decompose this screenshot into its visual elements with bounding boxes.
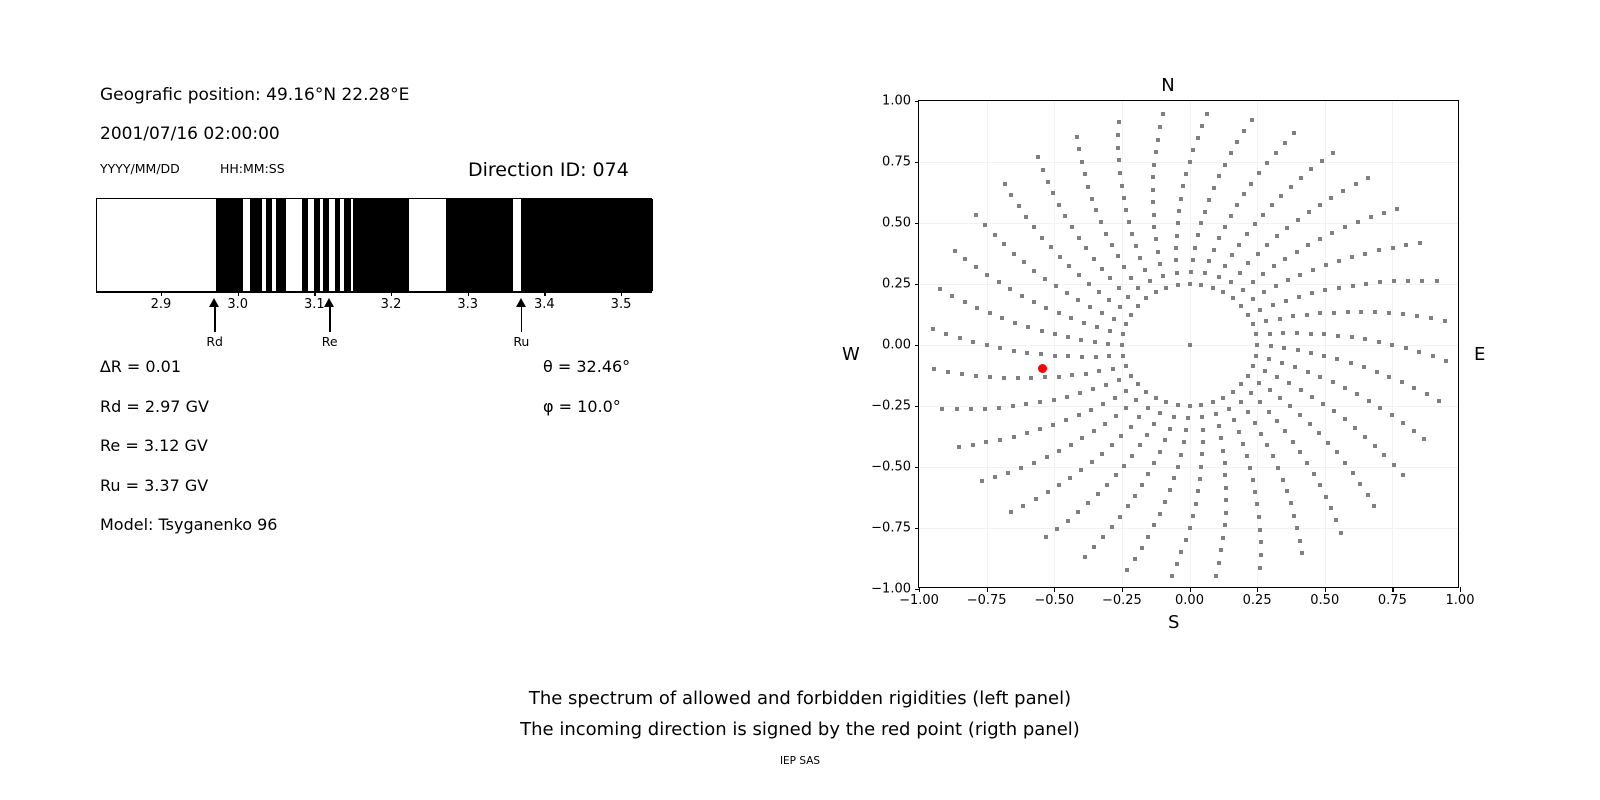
x-axis-tick xyxy=(1325,587,1326,592)
direction-node xyxy=(1002,376,1006,380)
direction-node xyxy=(1292,514,1296,518)
direction-node xyxy=(1025,351,1029,355)
direction-node xyxy=(1118,515,1122,519)
direction-node xyxy=(1401,421,1405,425)
direction-node xyxy=(1079,468,1083,472)
direction-node xyxy=(1242,192,1246,196)
direction-node xyxy=(1168,427,1172,431)
direction-node xyxy=(1076,510,1080,514)
direction-node xyxy=(1395,207,1399,211)
direction-node xyxy=(1382,211,1386,215)
direction-node xyxy=(1214,574,1218,578)
rigidity-axis-tick-label: 3.4 xyxy=(534,297,555,312)
y-axis-tick xyxy=(915,284,920,285)
rigidity-axis-tick xyxy=(391,292,392,296)
direction-node xyxy=(1254,354,1258,358)
direction-node xyxy=(1239,400,1243,404)
direction-node xyxy=(946,370,950,374)
direction-node xyxy=(1066,354,1070,358)
direction-node xyxy=(1292,131,1296,135)
compass-east-label: E xyxy=(1474,344,1485,365)
direction-node xyxy=(1291,314,1295,318)
direction-node xyxy=(1088,305,1092,309)
direction-node xyxy=(1148,279,1152,283)
direction-node xyxy=(1021,504,1025,508)
direction-node xyxy=(1140,546,1144,550)
direction-node xyxy=(1224,486,1228,490)
direction-node xyxy=(1377,340,1381,344)
rigidity-axis: 2.93.03.13.23.33.43.5 xyxy=(96,292,652,308)
direction-node xyxy=(1121,354,1125,358)
direction-node xyxy=(1058,255,1062,259)
direction-node xyxy=(1087,282,1091,286)
direction-node xyxy=(1217,561,1221,565)
direction-node xyxy=(1184,428,1188,432)
x-axis-tick xyxy=(987,587,988,592)
direction-node xyxy=(1172,415,1176,419)
direction-node xyxy=(1369,215,1373,219)
direction-scatter-plot: −1.00−0.75−0.50−0.250.000.250.500.751.00… xyxy=(918,100,1459,588)
direction-node xyxy=(1146,535,1150,539)
direction-node xyxy=(1201,428,1205,432)
direction-node xyxy=(1329,506,1333,510)
direction-node xyxy=(1113,396,1117,400)
direction-node xyxy=(974,374,978,378)
direction-node xyxy=(1251,478,1255,482)
direction-node xyxy=(1179,550,1183,554)
direction-node xyxy=(1285,489,1289,493)
direction-node xyxy=(988,311,992,315)
direction-node xyxy=(1051,191,1055,195)
x-axis-tick-label: −1.00 xyxy=(899,593,939,608)
direction-node xyxy=(1154,290,1158,294)
y-axis-tick-label: 0.25 xyxy=(851,277,911,292)
direction-node xyxy=(1199,283,1203,287)
direction-node xyxy=(1158,262,1162,266)
direction-node xyxy=(1108,276,1112,280)
parameter-right-0: θ = 32.46° xyxy=(543,357,630,376)
arrow-up-icon xyxy=(209,298,219,307)
incoming-direction-point[interactable] xyxy=(1038,364,1047,373)
direction-node xyxy=(1080,355,1084,359)
direction-node xyxy=(1205,112,1209,116)
direction-node xyxy=(1377,248,1381,252)
direction-node xyxy=(1329,196,1333,200)
direction-node xyxy=(1091,387,1095,391)
direction-node xyxy=(983,223,987,227)
direction-node xyxy=(1176,465,1180,469)
direction-id-label: Direction ID: 074 xyxy=(468,159,629,181)
direction-node xyxy=(1086,185,1090,189)
x-axis-tick xyxy=(1392,587,1393,592)
direction-node xyxy=(1078,391,1082,395)
direction-node xyxy=(1212,248,1216,252)
direction-node xyxy=(1275,419,1279,423)
direction-node xyxy=(1207,198,1211,202)
direction-node xyxy=(1019,466,1023,470)
direction-node xyxy=(1133,557,1137,561)
forbidden-band xyxy=(314,199,320,291)
direction-node xyxy=(1108,329,1112,333)
direction-node xyxy=(1343,225,1347,229)
marker-label: Ru xyxy=(501,334,541,349)
direction-node xyxy=(1283,429,1287,433)
direction-node xyxy=(1224,511,1228,515)
parameter-left-2: Re = 3.12 GV xyxy=(100,436,208,455)
rigidity-spectrum-panel: Geografic position: 49.16°N 22.28°E 2001… xyxy=(0,0,760,660)
direction-node xyxy=(1055,527,1059,531)
direction-node xyxy=(1336,334,1340,338)
direction-node xyxy=(1219,436,1223,440)
direction-node xyxy=(1248,466,1252,470)
direction-node xyxy=(974,213,978,217)
direction-node xyxy=(1126,504,1130,508)
direction-node xyxy=(1366,176,1370,180)
direction-node xyxy=(1343,461,1347,465)
direction-node xyxy=(938,287,942,291)
direction-node xyxy=(1221,396,1225,400)
direction-node xyxy=(1175,234,1179,238)
direction-node xyxy=(1066,335,1070,339)
axis-line xyxy=(96,292,652,293)
direction-node xyxy=(1318,311,1322,315)
forbidden-band xyxy=(344,199,350,291)
direction-node xyxy=(1129,313,1133,317)
parameter-left-3: Ru = 3.37 GV xyxy=(100,476,208,495)
direction-node xyxy=(1011,404,1015,408)
direction-node xyxy=(1086,501,1090,505)
direction-node xyxy=(1251,364,1255,368)
direction-node xyxy=(1287,381,1291,385)
direction-node xyxy=(1362,365,1366,369)
direction-node xyxy=(971,340,975,344)
marker-shaft xyxy=(521,304,523,332)
direction-node xyxy=(1259,553,1263,557)
direction-node xyxy=(1199,465,1203,469)
direction-node xyxy=(1032,269,1036,273)
direction-node xyxy=(1016,376,1020,380)
direction-node xyxy=(1122,196,1126,200)
direction-node xyxy=(1253,421,1257,425)
direction-node xyxy=(1032,461,1036,465)
direction-node xyxy=(1275,375,1279,379)
direction-node xyxy=(1070,373,1074,377)
x-axis-tick xyxy=(1460,587,1461,592)
direction-node xyxy=(1238,271,1242,275)
direction-node xyxy=(1176,221,1180,225)
direction-node xyxy=(1358,482,1362,486)
direction-node xyxy=(1323,288,1327,292)
y-axis-tick xyxy=(915,406,920,407)
direction-node xyxy=(1339,531,1343,535)
direction-node xyxy=(1203,271,1207,275)
direction-node xyxy=(1152,225,1156,229)
direction-node xyxy=(1179,453,1183,457)
direction-node xyxy=(1107,354,1111,358)
direction-node xyxy=(1312,472,1316,476)
direction-node xyxy=(1322,332,1326,336)
forbidden-band xyxy=(446,199,513,291)
direction-node xyxy=(1186,416,1190,420)
direction-node xyxy=(1121,332,1125,336)
direction-node xyxy=(1354,182,1358,186)
caption-line-2: The incoming direction is signed by the … xyxy=(0,719,1600,740)
direction-node xyxy=(1124,208,1128,212)
direction-node xyxy=(1331,151,1335,155)
direction-node xyxy=(1152,461,1156,465)
forbidden-band xyxy=(353,199,409,291)
direction-node xyxy=(1176,403,1180,407)
direction-node xyxy=(1151,188,1155,192)
direction-node xyxy=(1096,492,1100,496)
direction-node xyxy=(1224,498,1228,502)
direction-node xyxy=(1176,283,1180,287)
direction-node xyxy=(1318,237,1322,241)
rigidity-axis-tick xyxy=(621,292,622,296)
y-axis-tick xyxy=(915,345,920,346)
direction-node xyxy=(1286,278,1290,282)
direction-node xyxy=(1412,386,1416,390)
direction-node xyxy=(1200,415,1204,419)
direction-node xyxy=(1280,361,1284,365)
direction-node xyxy=(983,407,987,411)
direction-node xyxy=(1084,372,1088,376)
direction-node xyxy=(1152,523,1156,527)
direction-node xyxy=(960,372,964,376)
direction-node xyxy=(1400,380,1404,384)
direction-node xyxy=(1203,210,1207,214)
direction-node xyxy=(980,479,984,483)
direction-node xyxy=(1057,203,1061,207)
direction-node xyxy=(1117,158,1121,162)
direction-node xyxy=(1175,562,1179,566)
direction-node xyxy=(1057,375,1061,379)
direction-node xyxy=(1032,225,1036,229)
direction-node xyxy=(1219,548,1223,552)
direction-node xyxy=(1229,151,1233,155)
direction-node xyxy=(1194,502,1198,506)
direction-node xyxy=(1279,194,1283,198)
direction-node xyxy=(1046,490,1050,494)
y-axis-tick xyxy=(915,467,920,468)
gridline-vertical xyxy=(1054,101,1055,587)
direction-node xyxy=(1038,400,1042,404)
direction-node xyxy=(1101,402,1105,406)
direction-node xyxy=(1077,273,1081,277)
time-format-hint: HH:MM:SS xyxy=(220,161,285,176)
x-axis-tick-label: 0.50 xyxy=(1310,593,1339,608)
direction-node xyxy=(1092,257,1096,261)
direction-node xyxy=(1082,321,1086,325)
direction-node xyxy=(1231,390,1235,394)
direction-node xyxy=(1066,519,1070,523)
direction-node xyxy=(1116,146,1120,150)
direction-node xyxy=(1175,271,1179,275)
direction-node xyxy=(1309,351,1313,355)
direction-node xyxy=(1387,311,1391,315)
direction-node xyxy=(1281,478,1285,482)
rigidity-spectrum-bar xyxy=(96,198,652,292)
direction-node xyxy=(1200,124,1204,128)
direction-node xyxy=(1257,171,1261,175)
direction-node xyxy=(1363,252,1367,256)
direction-node xyxy=(1057,449,1061,453)
direction-node xyxy=(1332,311,1336,315)
direction-node xyxy=(1189,270,1193,274)
direction-node xyxy=(1188,343,1192,347)
direction-node xyxy=(1274,151,1278,155)
rigidity-axis-tick-label: 3.1 xyxy=(304,297,325,312)
direction-node xyxy=(1382,453,1386,457)
y-axis-tick xyxy=(915,223,920,224)
direction-node xyxy=(1387,375,1391,379)
direction-node xyxy=(1230,253,1234,257)
direction-node xyxy=(1223,523,1227,527)
rigidity-axis-tick-label: 3.0 xyxy=(227,297,248,312)
direction-node xyxy=(1281,331,1285,335)
direction-node xyxy=(1116,133,1120,137)
direction-node xyxy=(1133,494,1137,498)
direction-node xyxy=(1079,338,1083,342)
direction-node xyxy=(1130,232,1134,236)
direction-node xyxy=(1337,259,1341,263)
direction-node xyxy=(1156,250,1160,254)
direction-node xyxy=(985,273,989,277)
direction-node xyxy=(1406,279,1410,283)
direction-node xyxy=(1298,413,1302,417)
direction-node xyxy=(1070,225,1074,229)
geographic-position-label: Geografic position: 49.16°N 22.28°E xyxy=(100,85,409,105)
direction-node xyxy=(1217,174,1221,178)
direction-node xyxy=(1126,295,1130,299)
direction-node xyxy=(1422,437,1426,441)
direction-node xyxy=(1069,316,1073,320)
y-axis-tick-label: 0.75 xyxy=(851,155,911,170)
direction-node xyxy=(1046,180,1050,184)
direction-node xyxy=(1008,287,1012,291)
direction-node xyxy=(1009,193,1013,197)
direction-node xyxy=(1090,197,1094,201)
direction-node xyxy=(1253,222,1257,226)
direction-node xyxy=(1214,412,1218,416)
x-axis-tick xyxy=(1122,587,1123,592)
arrow-up-icon xyxy=(324,298,334,307)
direction-node xyxy=(1003,182,1007,186)
direction-node xyxy=(1285,226,1289,230)
direction-node xyxy=(1223,461,1227,465)
direction-node xyxy=(1151,200,1155,204)
direction-node xyxy=(1246,374,1250,378)
rigidity-axis-tick xyxy=(314,292,315,296)
direction-node xyxy=(1094,355,1098,359)
direction-node xyxy=(1129,374,1133,378)
marker-label: Rd xyxy=(195,334,235,349)
direction-node xyxy=(1425,392,1429,396)
direction-node xyxy=(1151,175,1155,179)
direction-node xyxy=(1083,555,1087,559)
direction-node xyxy=(1332,409,1336,413)
direction-node xyxy=(1298,539,1302,543)
direction-node xyxy=(1057,311,1061,315)
direction-node xyxy=(1041,168,1045,172)
direction-node xyxy=(1221,290,1225,294)
direction-node xyxy=(1249,391,1253,395)
direction-node xyxy=(1063,214,1067,218)
direction-node xyxy=(955,407,959,411)
direction-node xyxy=(1296,218,1300,222)
y-axis-tick-label: −0.50 xyxy=(851,460,911,475)
direction-node xyxy=(984,440,988,444)
spectrum-bar-wrap xyxy=(96,198,652,292)
direction-node xyxy=(1245,232,1249,236)
direction-node xyxy=(1259,432,1263,436)
direction-node xyxy=(1212,186,1216,190)
direction-node xyxy=(1097,290,1101,294)
direction-node xyxy=(1235,203,1239,207)
direction-node xyxy=(1293,365,1297,369)
rigidity-axis-tick-label: 3.3 xyxy=(457,297,478,312)
x-axis-tick xyxy=(1190,587,1191,592)
direction-node xyxy=(1417,350,1421,354)
direction-node xyxy=(1118,305,1122,309)
direction-node xyxy=(1049,245,1053,249)
direction-node xyxy=(1100,452,1104,456)
direction-node xyxy=(1276,466,1280,470)
direction-node xyxy=(1040,236,1044,240)
direction-node xyxy=(1390,413,1394,417)
footer-credit: IEP SAS xyxy=(0,755,1600,767)
parameter-left-0: ∆R = 0.01 xyxy=(100,357,181,376)
direction-node xyxy=(1242,129,1246,133)
direction-node xyxy=(1152,163,1156,167)
direction-node xyxy=(1075,135,1079,139)
direction-node xyxy=(1106,342,1110,346)
rigidity-axis-tick-label: 2.9 xyxy=(151,297,172,312)
direction-node xyxy=(1246,313,1250,317)
direction-node xyxy=(1105,483,1109,487)
direction-node xyxy=(1036,155,1040,159)
direction-node xyxy=(1069,443,1073,447)
direction-node xyxy=(1271,303,1275,307)
direction-node xyxy=(1146,472,1150,476)
x-axis-tick xyxy=(1054,587,1055,592)
direction-node xyxy=(1229,280,1233,284)
direction-node xyxy=(1268,332,1272,336)
direction-node xyxy=(1154,150,1158,154)
direction-node xyxy=(1318,483,1322,487)
direction-node xyxy=(998,438,1002,442)
direction-node xyxy=(1253,490,1257,494)
direction-node xyxy=(1267,357,1271,361)
direction-node xyxy=(1392,463,1396,467)
direction-node xyxy=(1250,118,1254,122)
direction-node xyxy=(1137,415,1141,419)
parameter-left-1: Rd = 2.97 GV xyxy=(100,397,209,416)
direction-node xyxy=(1181,184,1185,188)
direction-node xyxy=(1044,306,1048,310)
direction-node xyxy=(1251,280,1255,284)
direction-node xyxy=(974,265,978,269)
direction-node xyxy=(1064,418,1068,422)
direction-node xyxy=(1124,364,1128,368)
direction-node xyxy=(1229,214,1233,218)
datetime-label: 2001/07/16 02:00:00 xyxy=(100,124,280,144)
direction-node xyxy=(1198,477,1202,481)
direction-node xyxy=(1017,204,1021,208)
direction-node xyxy=(1161,112,1165,116)
direction-node xyxy=(1154,237,1158,241)
forbidden-band xyxy=(335,199,340,291)
